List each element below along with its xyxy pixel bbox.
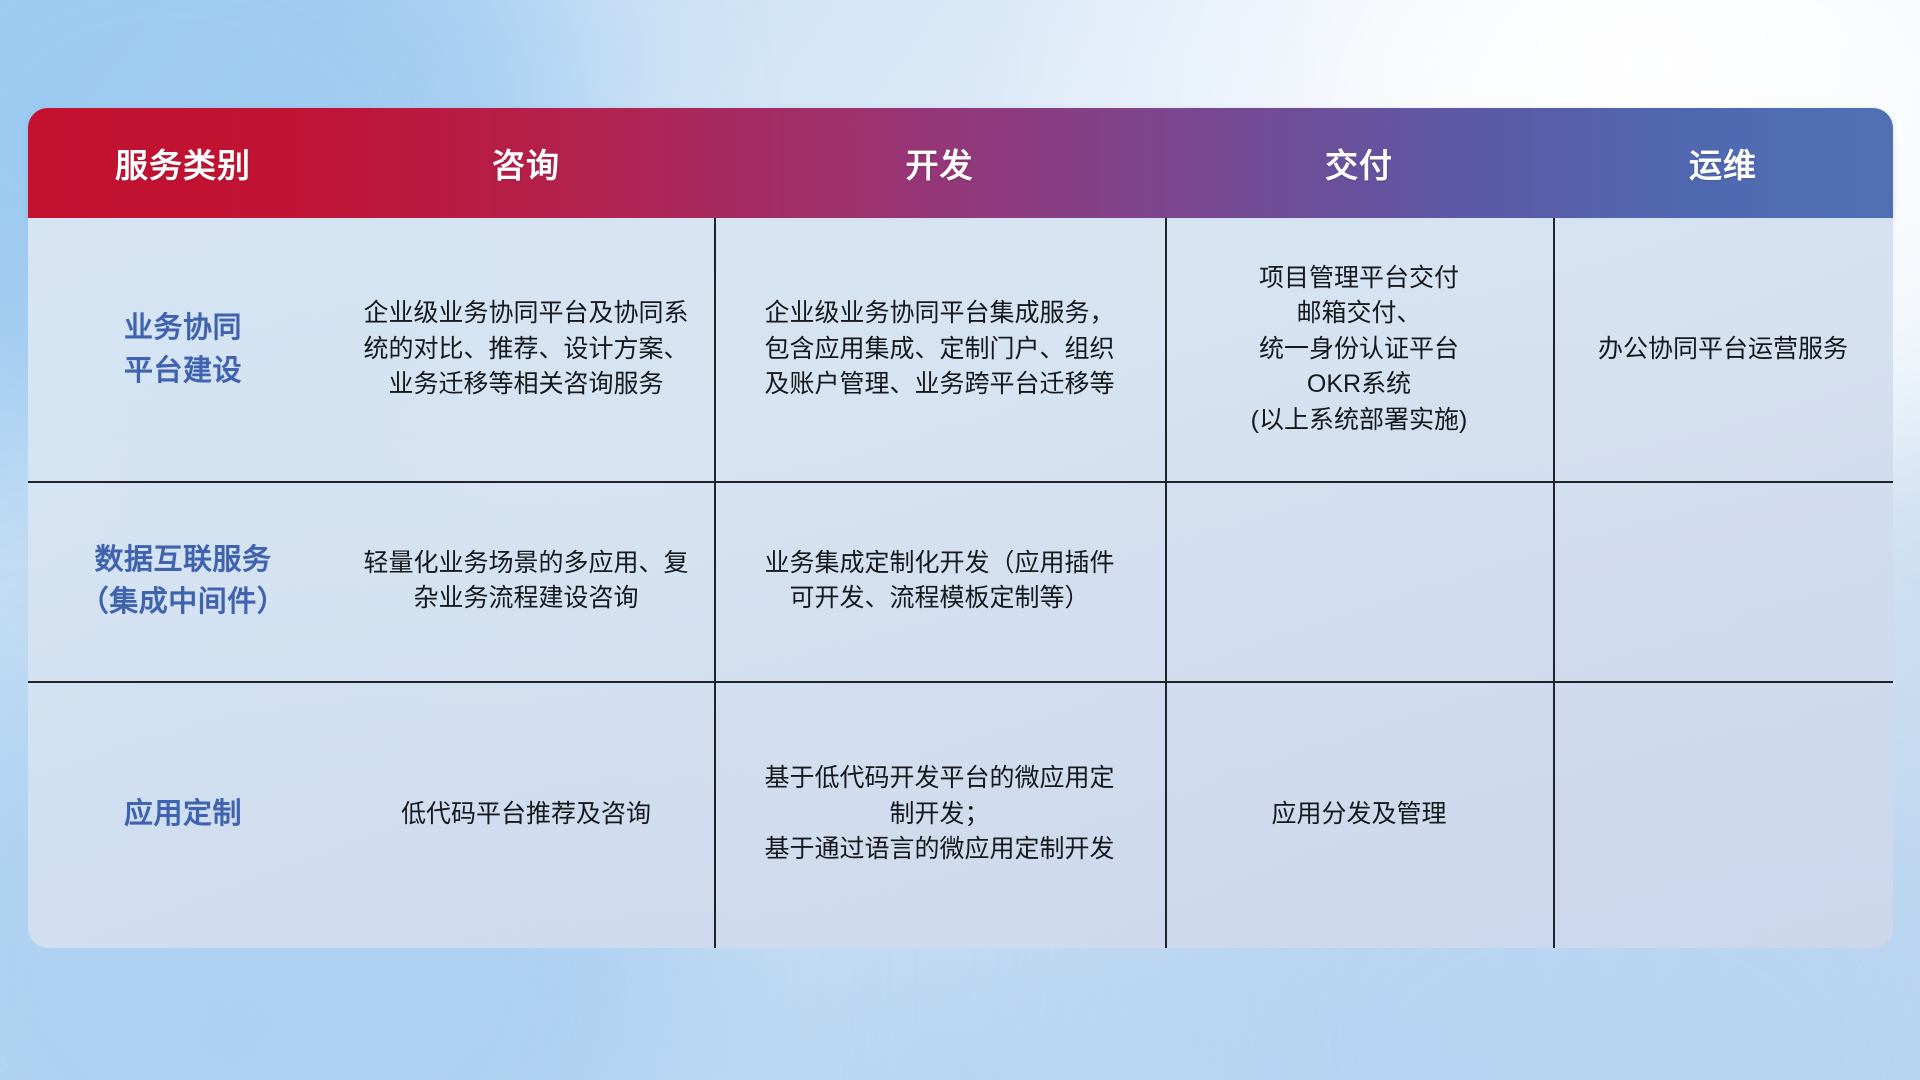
column-header-development: 开发 xyxy=(714,108,1165,218)
table-row: 业务协同 平台建设 企业级业务协同平台及协同系 统的对比、推荐、设计方案、 业务… xyxy=(28,218,1893,481)
cell-consulting-row1: 企业级业务协同平台及协同系 统的对比、推荐、设计方案、 业务迁移等相关咨询服务 xyxy=(338,218,714,481)
cell-development-row3: 基于低代码开发平台的微应用定 制开发； 基于通过语言的微应用定制开发 xyxy=(714,681,1165,948)
slide-canvas: 服务类别 咨询 开发 交付 运维 业务协同 平台建设 企业级业务协同平台及协同系… xyxy=(0,0,1920,1080)
row-label-data-interconnect: 数据互联服务 （集成中间件） xyxy=(28,481,338,681)
row-label-business-collaboration: 业务协同 平台建设 xyxy=(28,218,338,481)
service-matrix-table: 服务类别 咨询 开发 交付 运维 业务协同 平台建设 企业级业务协同平台及协同系… xyxy=(28,108,1893,948)
cell-development-row2: 业务集成定制化开发（应用插件 可开发、流程模板定制等） xyxy=(714,481,1165,681)
table-row: 数据互联服务 （集成中间件） 轻量化业务场景的多应用、复 杂业务流程建设咨询 业… xyxy=(28,481,1893,681)
cell-delivery-row2 xyxy=(1165,481,1553,681)
cell-delivery-row3: 应用分发及管理 xyxy=(1165,681,1553,948)
table-row: 应用定制 低代码平台推荐及咨询 基于低代码开发平台的微应用定 制开发； 基于通过… xyxy=(28,681,1893,948)
cell-operations-row2 xyxy=(1553,481,1893,681)
cell-operations-row3 xyxy=(1553,681,1893,948)
cell-development-row1: 企业级业务协同平台集成服务， 包含应用集成、定制门户、组织 及账户管理、业务跨平… xyxy=(714,218,1165,481)
column-header-operations: 运维 xyxy=(1553,108,1893,218)
cell-operations-row1: 办公协同平台运营服务 xyxy=(1553,218,1893,481)
column-header-consulting: 咨询 xyxy=(338,108,714,218)
column-header-category: 服务类别 xyxy=(28,108,338,218)
cell-delivery-row1: 项目管理平台交付 邮箱交付、 统一身份认证平台 OKR系统 (以上系统部署实施) xyxy=(1165,218,1553,481)
row-label-app-customization: 应用定制 xyxy=(28,681,338,948)
table-body: 业务协同 平台建设 企业级业务协同平台及协同系 统的对比、推荐、设计方案、 业务… xyxy=(28,218,1893,948)
cell-consulting-row2: 轻量化业务场景的多应用、复 杂业务流程建设咨询 xyxy=(338,481,714,681)
cell-consulting-row3: 低代码平台推荐及咨询 xyxy=(338,681,714,948)
table-header-row: 服务类别 咨询 开发 交付 运维 xyxy=(28,108,1893,218)
column-header-delivery: 交付 xyxy=(1165,108,1553,218)
